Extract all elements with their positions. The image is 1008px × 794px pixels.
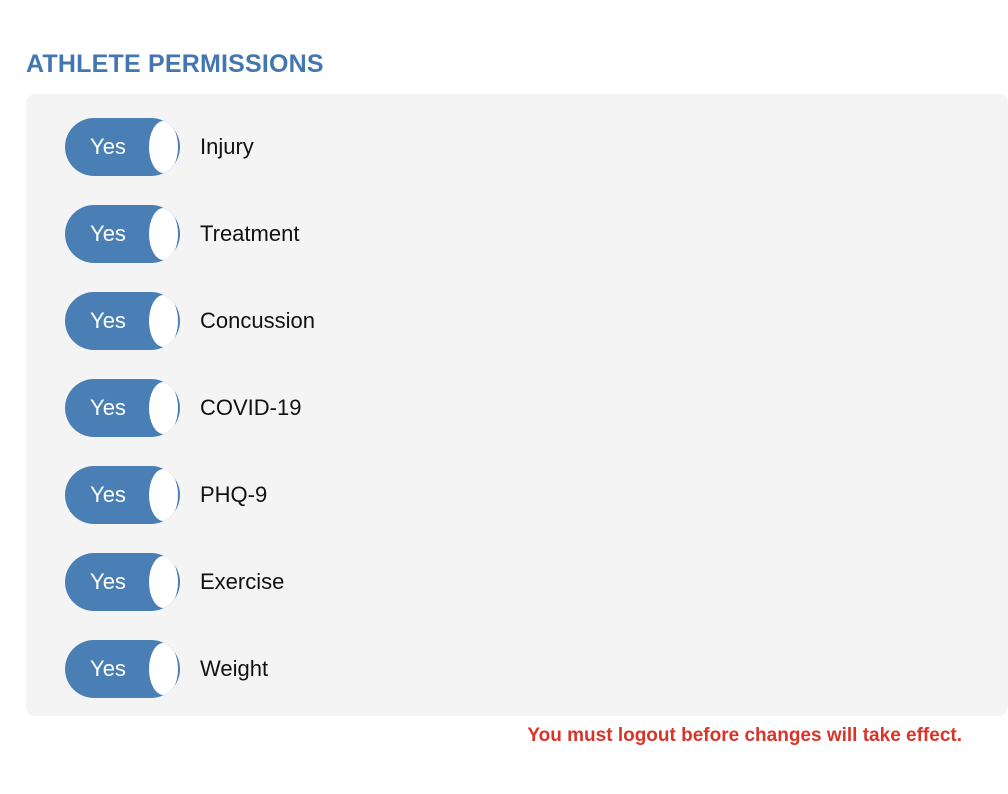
permission-toggle-exercise[interactable]: Yes xyxy=(65,553,180,611)
permission-toggle-concussion[interactable]: Yes xyxy=(65,292,180,350)
toggle-knob-icon xyxy=(149,556,178,608)
toggle-state-label: Yes xyxy=(65,553,151,611)
permission-row: YesExercise xyxy=(26,553,1008,611)
permission-label-injury: Injury xyxy=(200,134,254,160)
permission-toggle-phq-9[interactable]: Yes xyxy=(65,466,180,524)
permission-list: YesInjuryYesTreatmentYesConcussionYesCOV… xyxy=(26,118,1008,698)
page-title: ATHLETE PERMISSIONS xyxy=(26,49,324,79)
permission-toggle-covid-19[interactable]: Yes xyxy=(65,379,180,437)
toggle-state-label: Yes xyxy=(65,640,151,698)
toggle-state-label: Yes xyxy=(65,466,151,524)
permission-toggle-weight[interactable]: Yes xyxy=(65,640,180,698)
permission-toggle-injury[interactable]: Yes xyxy=(65,118,180,176)
permission-toggle-treatment[interactable]: Yes xyxy=(65,205,180,263)
permission-row: YesConcussion xyxy=(26,292,1008,350)
toggle-knob-icon xyxy=(149,208,178,260)
toggle-knob-icon xyxy=(149,469,178,521)
permission-label-weight: Weight xyxy=(200,656,268,682)
permission-label-phq-9: PHQ-9 xyxy=(200,482,267,508)
toggle-knob-icon xyxy=(149,295,178,347)
permission-label-covid-19: COVID-19 xyxy=(200,395,301,421)
permission-row: YesInjury xyxy=(26,118,1008,176)
toggle-state-label: Yes xyxy=(65,118,151,176)
toggle-knob-icon xyxy=(149,121,178,173)
toggle-knob-icon xyxy=(149,382,178,434)
athlete-permissions-page: ATHLETE PERMISSIONS YesInjuryYesTreatmen… xyxy=(0,0,1008,794)
permission-row: YesCOVID-19 xyxy=(26,379,1008,437)
permission-row: YesWeight xyxy=(26,640,1008,698)
toggle-state-label: Yes xyxy=(65,205,151,263)
permission-label-treatment: Treatment xyxy=(200,221,299,247)
permission-row: YesPHQ-9 xyxy=(26,466,1008,524)
logout-required-note: You must logout before changes will take… xyxy=(26,724,962,748)
permission-row: YesTreatment xyxy=(26,205,1008,263)
permission-label-exercise: Exercise xyxy=(200,569,284,595)
permission-label-concussion: Concussion xyxy=(200,308,315,334)
toggle-knob-icon xyxy=(149,643,178,695)
toggle-state-label: Yes xyxy=(65,292,151,350)
toggle-state-label: Yes xyxy=(65,379,151,437)
permissions-card: YesInjuryYesTreatmentYesConcussionYesCOV… xyxy=(26,94,1008,716)
